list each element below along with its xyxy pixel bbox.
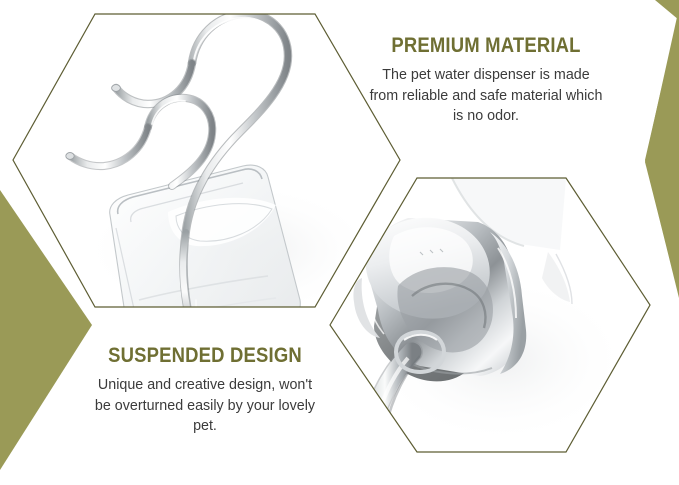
premium-material-line-2: from reliable and safe material which <box>352 86 620 107</box>
suspended-design-line-2: be overturned easily by your lovely <box>62 396 348 417</box>
suspended-design-line-3: pet. <box>62 416 348 437</box>
decor-chevron-right-body <box>645 8 679 296</box>
suspended-design-line-1: Unique and creative design, won't <box>62 375 348 396</box>
premium-material-line-1: The pet water dispenser is made <box>352 65 620 86</box>
premium-material-line-3: is no odor. <box>352 106 620 127</box>
photo-chrome-nozzle <box>320 170 660 485</box>
premium-material-heading: PREMIUM MATERIAL <box>368 34 604 58</box>
feature-premium-material: PREMIUM MATERIAL The pet water dispenser… <box>352 34 620 127</box>
suspended-design-heading: SUSPENDED DESIGN <box>79 344 331 368</box>
product-infographic: PREMIUM MATERIAL The pet water dispenser… <box>0 0 679 485</box>
feature-suspended-design: SUSPENDED DESIGN Unique and creative des… <box>62 344 348 437</box>
decor-chevron-right-wing <box>655 0 679 20</box>
clear-bottle <box>110 165 301 353</box>
